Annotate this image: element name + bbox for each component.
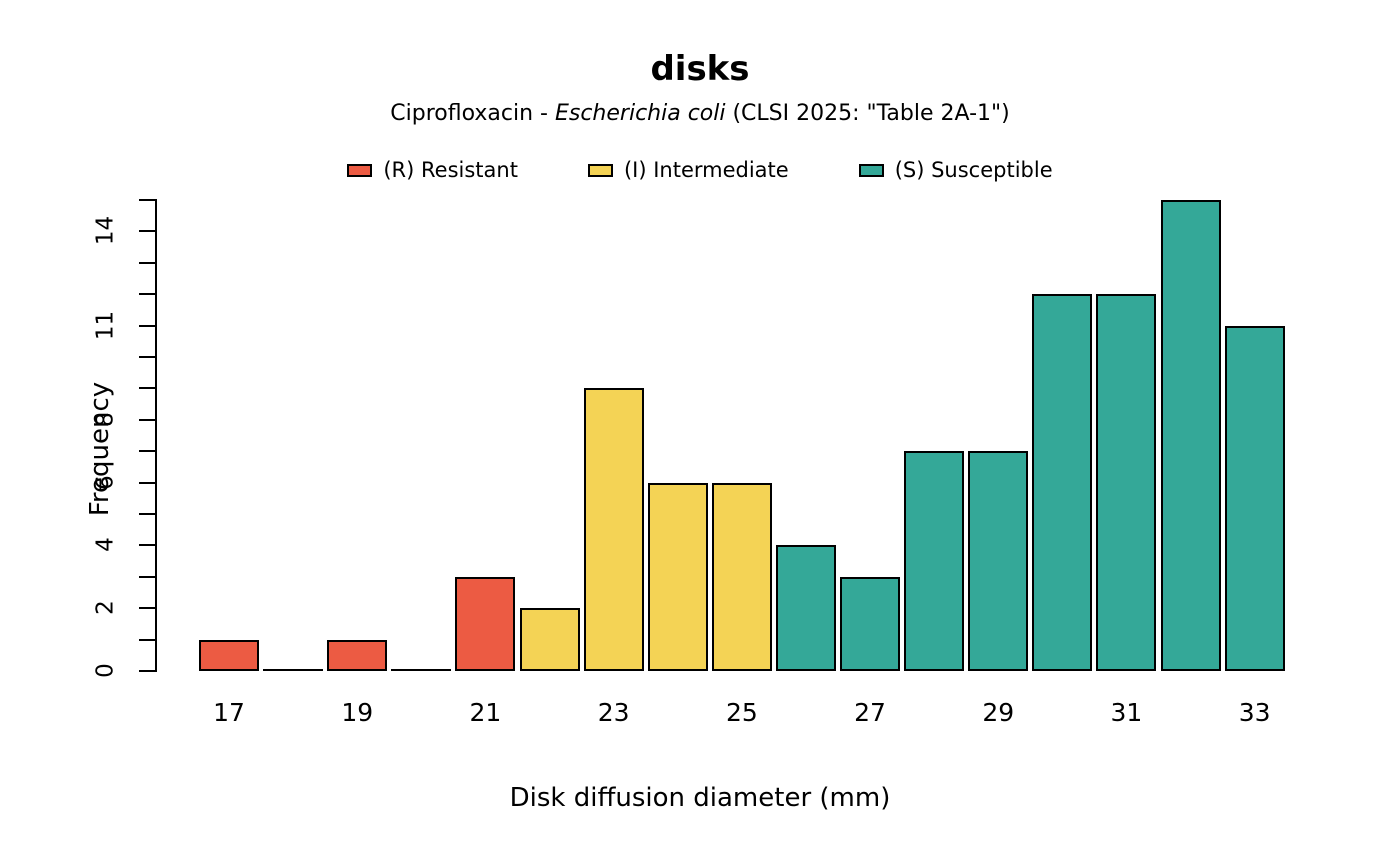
y-tick xyxy=(139,513,155,515)
bar[interactable] xyxy=(584,388,644,671)
bar[interactable] xyxy=(455,577,515,671)
y-axis-line xyxy=(155,199,157,672)
y-tick xyxy=(139,544,155,546)
x-axis-title: Disk diffusion diameter (mm) xyxy=(0,785,1400,811)
bar[interactable] xyxy=(327,640,387,671)
y-tick xyxy=(139,230,155,232)
x-tick-label: 21 xyxy=(470,700,502,725)
plot-area: 024681114 171921232527293133 xyxy=(0,0,1400,866)
y-tick xyxy=(139,387,155,389)
y-tick xyxy=(139,482,155,484)
y-tick xyxy=(139,325,155,327)
y-axis-title: Frequency xyxy=(87,349,113,549)
x-tick-label: 19 xyxy=(341,700,373,725)
x-tick-label: 25 xyxy=(726,700,758,725)
bar[interactable] xyxy=(263,669,323,671)
bar[interactable] xyxy=(968,451,1028,671)
bar[interactable] xyxy=(520,608,580,671)
bar[interactable] xyxy=(199,640,259,671)
y-tick xyxy=(139,607,155,609)
y-tick xyxy=(139,419,155,421)
bar[interactable] xyxy=(840,577,900,671)
x-tick-label: 17 xyxy=(213,700,245,725)
bar[interactable] xyxy=(648,483,708,671)
y-tick xyxy=(139,639,155,641)
y-tick xyxy=(139,293,155,295)
bar[interactable] xyxy=(391,669,451,671)
bar[interactable] xyxy=(1161,200,1221,671)
bar[interactable] xyxy=(904,451,964,671)
x-tick-label: 29 xyxy=(982,700,1014,725)
bar[interactable] xyxy=(1032,294,1092,671)
y-tick-label: 0 xyxy=(95,651,118,691)
y-tick-label: 11 xyxy=(95,305,118,345)
y-tick xyxy=(139,576,155,578)
x-tick-label: 23 xyxy=(598,700,630,725)
x-tick-label: 27 xyxy=(854,700,886,725)
bar[interactable] xyxy=(1225,326,1285,671)
y-tick xyxy=(139,450,155,452)
bar[interactable] xyxy=(776,545,836,671)
y-tick-label: 14 xyxy=(95,211,118,251)
y-tick xyxy=(139,670,155,672)
bar[interactable] xyxy=(712,483,772,671)
chart-figure: disks Ciprofloxacin - Escherichia coli (… xyxy=(0,0,1400,866)
x-tick-label: 33 xyxy=(1239,700,1271,725)
y-tick-label: 2 xyxy=(95,588,118,628)
bar[interactable] xyxy=(1096,294,1156,671)
y-tick xyxy=(139,262,155,264)
y-tick xyxy=(139,356,155,358)
y-tick xyxy=(139,199,155,201)
x-tick-label: 31 xyxy=(1111,700,1143,725)
